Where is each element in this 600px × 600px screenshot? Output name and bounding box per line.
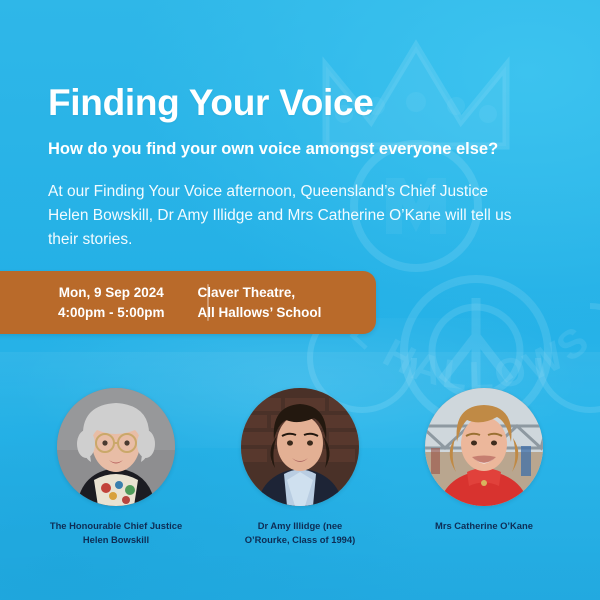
event-venue: Claver Theatre, All Hallows’ School bbox=[198, 283, 322, 321]
event-details-banner: Mon, 9 Sep 2024 4:00pm - 5:00pm Claver T… bbox=[0, 271, 376, 334]
poster-body-copy: At our Finding Your Voice afternoon, Que… bbox=[48, 180, 518, 252]
speaker-card: Mrs Catherine O’Kane bbox=[414, 388, 554, 546]
portrait-helen-bowskill bbox=[57, 388, 175, 506]
portrait-catherine-okane bbox=[425, 388, 543, 506]
speaker-caption-line-2: Helen Bowskill bbox=[50, 533, 182, 547]
event-time: 4:00pm - 5:00pm bbox=[58, 303, 165, 322]
speaker-caption-line-1: Dr Amy Illidge (nee bbox=[245, 519, 355, 533]
event-date: Mon, 9 Sep 2024 bbox=[58, 283, 165, 302]
speaker-card: Dr Amy Illidge (nee O’Rourke, Class of 1… bbox=[230, 388, 370, 546]
speaker-card: The Honourable Chief Justice Helen Bowsk… bbox=[46, 388, 186, 546]
speaker-caption-line-1: Mrs Catherine O’Kane bbox=[435, 519, 533, 533]
event-datetime: Mon, 9 Sep 2024 4:00pm - 5:00pm bbox=[58, 283, 165, 321]
page-title: Finding Your Voice bbox=[48, 83, 374, 124]
portrait-amy-illidge bbox=[241, 388, 359, 506]
speaker-caption: The Honourable Chief Justice Helen Bowsk… bbox=[50, 519, 182, 546]
speaker-caption: Dr Amy Illidge (nee O’Rourke, Class of 1… bbox=[245, 519, 355, 546]
banner-divider bbox=[207, 284, 209, 321]
venue-line-2: All Hallows’ School bbox=[198, 303, 322, 322]
poster-subtitle: How do you find your own voice amongst e… bbox=[48, 138, 568, 160]
venue-line-1: Claver Theatre, bbox=[198, 283, 322, 302]
speaker-caption: Mrs Catherine O’Kane bbox=[435, 519, 533, 533]
speakers-row: The Honourable Chief Justice Helen Bowsk… bbox=[0, 388, 600, 546]
speaker-caption-line-2: O’Rourke, Class of 1994) bbox=[245, 533, 355, 547]
speaker-caption-line-1: The Honourable Chief Justice bbox=[50, 519, 182, 533]
event-poster: ALL HALLOWS Finding Your Voice How do yo… bbox=[0, 0, 600, 600]
